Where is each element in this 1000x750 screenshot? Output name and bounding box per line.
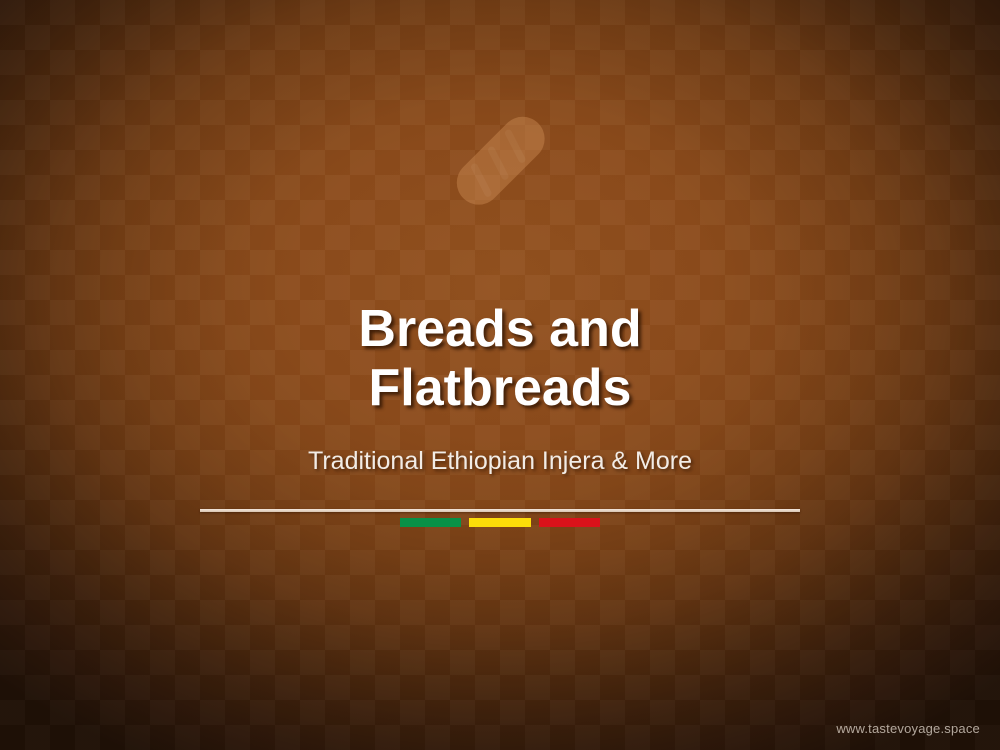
- background-pattern-square: [125, 675, 150, 700]
- background-pattern-square: [650, 0, 675, 25]
- background-pattern-square: [825, 25, 850, 50]
- background-pattern-square: [950, 150, 975, 175]
- background-pattern-square: [575, 725, 600, 750]
- background-pattern-square: [800, 50, 825, 75]
- background-pattern-square: [500, 550, 525, 575]
- background-pattern-square: [550, 0, 575, 25]
- background-pattern-square: [125, 175, 150, 200]
- background-pattern-square: [300, 100, 325, 125]
- background-pattern-square: [575, 625, 600, 650]
- background-pattern-square: [100, 150, 125, 175]
- background-pattern-square: [375, 75, 400, 100]
- background-pattern-square: [475, 275, 500, 300]
- background-pattern-square: [950, 100, 975, 125]
- background-pattern-square: [700, 0, 725, 25]
- background-pattern-square: [675, 575, 700, 600]
- background-pattern-square: [400, 0, 425, 25]
- background-pattern-square: [300, 550, 325, 575]
- background-pattern-square: [825, 175, 850, 200]
- background-pattern-square: [225, 25, 250, 50]
- background-pattern-square: [150, 500, 175, 525]
- background-pattern-square: [950, 550, 975, 575]
- background-pattern-square: [750, 100, 775, 125]
- background-pattern-square: [825, 475, 850, 500]
- background-pattern-square: [650, 550, 675, 575]
- background-pattern-square: [275, 225, 300, 250]
- background-pattern-square: [525, 525, 550, 550]
- background-pattern-square: [925, 275, 950, 300]
- background-pattern-square: [850, 150, 875, 175]
- background-pattern-square: [775, 275, 800, 300]
- background-pattern-square: [575, 475, 600, 500]
- background-pattern-square: [225, 75, 250, 100]
- background-pattern-square: [300, 650, 325, 675]
- background-pattern-square: [150, 0, 175, 25]
- background-pattern-square: [125, 625, 150, 650]
- background-pattern-square: [750, 650, 775, 675]
- background-pattern-square: [325, 675, 350, 700]
- background-pattern-square: [475, 675, 500, 700]
- background-pattern-square: [700, 500, 725, 525]
- background-pattern-square: [100, 550, 125, 575]
- background-pattern-square: [25, 725, 50, 750]
- background-pattern-square: [150, 600, 175, 625]
- background-pattern-square: [675, 725, 700, 750]
- background-pattern-square: [700, 550, 725, 575]
- background-pattern-square: [100, 50, 125, 75]
- background-pattern-square: [325, 275, 350, 300]
- background-pattern-square: [300, 50, 325, 75]
- background-pattern-square: [250, 250, 275, 275]
- background-pattern-square: [825, 125, 850, 150]
- background-pattern-square: [225, 725, 250, 750]
- background-pattern-square: [600, 200, 625, 225]
- background-pattern-square: [675, 25, 700, 50]
- background-pattern-square: [925, 25, 950, 50]
- background-pattern-square: [600, 700, 625, 725]
- background-pattern-square: [575, 675, 600, 700]
- background-pattern-square: [500, 700, 525, 725]
- background-pattern-square: [850, 600, 875, 625]
- background-pattern-square: [775, 75, 800, 100]
- background-pattern-square: [675, 525, 700, 550]
- background-pattern-square: [975, 475, 1000, 500]
- accent-bar-group: [400, 518, 600, 527]
- background-pattern-square: [725, 475, 750, 500]
- background-pattern-square: [50, 200, 75, 225]
- background-pattern-square: [375, 275, 400, 300]
- background-pattern-square: [550, 700, 575, 725]
- background-pattern-square: [975, 575, 1000, 600]
- background-pattern-square: [975, 225, 1000, 250]
- background-pattern-square: [400, 600, 425, 625]
- background-pattern-square: [925, 625, 950, 650]
- background-pattern-square: [850, 500, 875, 525]
- background-pattern-square: [375, 725, 400, 750]
- background-pattern-square: [875, 525, 900, 550]
- background-pattern-square: [875, 275, 900, 300]
- background-pattern-square: [575, 75, 600, 100]
- background-pattern-square: [900, 50, 925, 75]
- background-pattern-square: [675, 275, 700, 300]
- page-subtitle: Traditional Ethiopian Injera & More: [0, 444, 1000, 478]
- background-pattern-square: [925, 575, 950, 600]
- background-pattern-square: [400, 200, 425, 225]
- background-pattern-square: [50, 50, 75, 75]
- background-pattern-square: [750, 250, 775, 275]
- background-pattern-square: [425, 475, 450, 500]
- background-pattern-square: [700, 700, 725, 725]
- background-pattern-square: [400, 650, 425, 675]
- background-pattern-square: [725, 75, 750, 100]
- background-pattern-square: [500, 50, 525, 75]
- background-pattern-square: [50, 500, 75, 525]
- background-pattern-square: [575, 275, 600, 300]
- background-pattern-square: [25, 475, 50, 500]
- background-pattern-square: [150, 100, 175, 125]
- background-pattern-square: [375, 625, 400, 650]
- background-pattern-square: [425, 225, 450, 250]
- background-pattern-square: [325, 75, 350, 100]
- background-pattern-square: [200, 200, 225, 225]
- background-pattern-square: [125, 225, 150, 250]
- background-pattern-square: [0, 100, 25, 125]
- background-pattern-square: [75, 225, 100, 250]
- background-pattern-square: [950, 250, 975, 275]
- background-pattern-square: [900, 500, 925, 525]
- background-pattern-square: [650, 100, 675, 125]
- background-pattern-square: [875, 175, 900, 200]
- background-pattern-square: [100, 600, 125, 625]
- background-pattern-square: [225, 275, 250, 300]
- background-pattern-square: [325, 125, 350, 150]
- background-pattern-square: [925, 75, 950, 100]
- background-pattern-square: [600, 250, 625, 275]
- background-pattern-square: [800, 550, 825, 575]
- background-pattern-square: [75, 25, 100, 50]
- background-pattern-square: [425, 525, 450, 550]
- background-pattern-square: [800, 250, 825, 275]
- background-pattern-square: [600, 150, 625, 175]
- background-pattern-square: [425, 25, 450, 50]
- background-pattern-square: [325, 225, 350, 250]
- background-pattern-square: [350, 50, 375, 75]
- background-pattern-square: [650, 150, 675, 175]
- background-pattern-square: [775, 725, 800, 750]
- background-pattern-square: [0, 550, 25, 575]
- background-pattern-square: [725, 525, 750, 550]
- background-pattern-square: [825, 675, 850, 700]
- background-pattern-square: [275, 625, 300, 650]
- background-pattern-square: [900, 200, 925, 225]
- background-pattern-square: [25, 175, 50, 200]
- background-pattern-square: [350, 500, 375, 525]
- background-pattern-square: [125, 275, 150, 300]
- background-pattern-square: [50, 550, 75, 575]
- background-pattern-square: [925, 475, 950, 500]
- background-pattern-square: [200, 650, 225, 675]
- background-pattern-square: [50, 150, 75, 175]
- background-pattern-square: [750, 150, 775, 175]
- background-pattern-square: [375, 525, 400, 550]
- background-pattern-square: [675, 75, 700, 100]
- background-pattern-square: [850, 0, 875, 25]
- background-pattern-square: [675, 675, 700, 700]
- background-pattern-square: [600, 500, 625, 525]
- background-pattern-square: [400, 100, 425, 125]
- background-pattern-square: [75, 275, 100, 300]
- background-pattern-square: [325, 575, 350, 600]
- background-pattern-square: [475, 625, 500, 650]
- background-pattern-square: [0, 0, 25, 25]
- background-pattern-square: [875, 475, 900, 500]
- background-pattern-square: [250, 600, 275, 625]
- background-pattern-square: [900, 550, 925, 575]
- background-pattern-square: [475, 25, 500, 50]
- background-pattern-square: [50, 600, 75, 625]
- background-pattern-square: [525, 225, 550, 250]
- background-pattern-square: [125, 125, 150, 150]
- background-pattern-square: [825, 275, 850, 300]
- background-pattern-square: [750, 500, 775, 525]
- divider-rule: [200, 509, 800, 512]
- background-pattern-square: [200, 550, 225, 575]
- background-pattern-square: [175, 725, 200, 750]
- background-pattern-square: [850, 200, 875, 225]
- background-pattern-square: [100, 500, 125, 525]
- background-pattern-square: [25, 575, 50, 600]
- background-pattern-square: [375, 175, 400, 200]
- background-pattern-square: [800, 500, 825, 525]
- background-pattern-square: [0, 700, 25, 725]
- background-pattern-square: [775, 525, 800, 550]
- background-pattern-square: [375, 125, 400, 150]
- background-pattern-square: [625, 25, 650, 50]
- background-pattern-square: [325, 175, 350, 200]
- background-pattern-square: [25, 125, 50, 150]
- background-pattern-square: [300, 150, 325, 175]
- background-pattern-square: [275, 75, 300, 100]
- background-pattern-square: [350, 650, 375, 675]
- background-pattern-square: [750, 200, 775, 225]
- background-pattern-square: [575, 125, 600, 150]
- background-pattern-square: [550, 600, 575, 625]
- background-pattern-square: [425, 575, 450, 600]
- background-pattern-square: [750, 600, 775, 625]
- background-pattern-square: [725, 225, 750, 250]
- background-pattern-square: [800, 600, 825, 625]
- background-pattern-square: [800, 650, 825, 675]
- background-pattern-square: [825, 225, 850, 250]
- background-pattern-square: [600, 0, 625, 25]
- background-pattern-square: [525, 675, 550, 700]
- background-pattern-square: [450, 600, 475, 625]
- background-pattern-square: [900, 100, 925, 125]
- background-pattern-square: [225, 475, 250, 500]
- background-pattern-square: [350, 600, 375, 625]
- background-pattern-square: [825, 75, 850, 100]
- bread-loaf-icon: [435, 95, 565, 225]
- background-pattern-square: [275, 675, 300, 700]
- background-pattern-square: [175, 525, 200, 550]
- background-pattern-square: [150, 200, 175, 225]
- background-pattern-square: [75, 75, 100, 100]
- background-pattern-square: [275, 525, 300, 550]
- background-pattern-square: [75, 725, 100, 750]
- background-pattern-square: [825, 575, 850, 600]
- background-pattern-square: [925, 675, 950, 700]
- accent-bar-green: [400, 518, 461, 527]
- background-pattern-square: [75, 675, 100, 700]
- background-pattern-square: [625, 125, 650, 150]
- background-pattern-square: [75, 525, 100, 550]
- background-pattern-square: [875, 75, 900, 100]
- background-pattern-square: [700, 150, 725, 175]
- background-pattern-square: [450, 550, 475, 575]
- background-pattern-square: [975, 675, 1000, 700]
- background-pattern-square: [950, 0, 975, 25]
- background-pattern-square: [25, 275, 50, 300]
- background-pattern-square: [625, 175, 650, 200]
- background-pattern-square: [700, 250, 725, 275]
- background-pattern-square: [975, 175, 1000, 200]
- background-pattern-square: [250, 0, 275, 25]
- background-pattern-square: [550, 50, 575, 75]
- page-title-line-1: Breads and: [0, 300, 1000, 359]
- background-pattern-square: [650, 700, 675, 725]
- background-pattern-square: [200, 100, 225, 125]
- background-pattern-square: [450, 650, 475, 675]
- background-pattern-square: [650, 650, 675, 675]
- background-pattern-square: [425, 625, 450, 650]
- background-pattern-square: [300, 600, 325, 625]
- background-pattern-square: [100, 100, 125, 125]
- background-pattern-square: [625, 225, 650, 250]
- background-pattern-square: [300, 700, 325, 725]
- background-pattern-square: [350, 700, 375, 725]
- background-pattern-square: [475, 575, 500, 600]
- background-pattern-square: [375, 475, 400, 500]
- background-pattern-square: [350, 200, 375, 225]
- page-title: Breads and Flatbreads: [0, 300, 1000, 418]
- background-pattern-square: [175, 575, 200, 600]
- background-pattern-square: [875, 225, 900, 250]
- background-pattern-square: [950, 200, 975, 225]
- background-pattern-square: [450, 0, 475, 25]
- background-pattern-square: [625, 475, 650, 500]
- background-pattern-square: [350, 100, 375, 125]
- background-pattern-square: [975, 75, 1000, 100]
- background-pattern-square: [875, 675, 900, 700]
- background-pattern-square: [900, 250, 925, 275]
- background-pattern-square: [200, 500, 225, 525]
- background-pattern-square: [125, 75, 150, 100]
- background-pattern-square: [450, 700, 475, 725]
- background-pattern-square: [100, 250, 125, 275]
- background-pattern-square: [200, 150, 225, 175]
- background-pattern-square: [675, 125, 700, 150]
- background-pattern-square: [275, 725, 300, 750]
- background-pattern-square: [725, 625, 750, 650]
- page-title-line-2: Flatbreads: [0, 359, 1000, 418]
- background-pattern-square: [975, 25, 1000, 50]
- background-pattern-square: [275, 575, 300, 600]
- background-pattern-square: [325, 725, 350, 750]
- background-pattern-square: [225, 675, 250, 700]
- background-pattern-square: [375, 675, 400, 700]
- background-pattern-square: [750, 50, 775, 75]
- background-pattern-square: [650, 500, 675, 525]
- background-pattern-square: [25, 675, 50, 700]
- background-pattern-square: [825, 625, 850, 650]
- background-pattern-square: [175, 175, 200, 200]
- background-pattern-square: [600, 650, 625, 675]
- background-pattern-square: [775, 625, 800, 650]
- background-pattern-square: [150, 550, 175, 575]
- background-pattern-square: [575, 175, 600, 200]
- background-pattern-square: [725, 175, 750, 200]
- background-pattern-square: [650, 600, 675, 625]
- background-pattern-square: [400, 700, 425, 725]
- background-pattern-square: [850, 550, 875, 575]
- background-pattern-square: [650, 250, 675, 275]
- background-pattern-square: [775, 125, 800, 150]
- background-pattern-square: [275, 25, 300, 50]
- background-pattern-square: [725, 725, 750, 750]
- background-pattern-square: [850, 650, 875, 675]
- background-pattern-square: [500, 250, 525, 275]
- background-pattern-square: [250, 100, 275, 125]
- background-pattern-square: [50, 100, 75, 125]
- background-pattern-square: [75, 575, 100, 600]
- background-pattern-square: [875, 625, 900, 650]
- background-pattern-square: [250, 500, 275, 525]
- background-pattern-square: [25, 525, 50, 550]
- background-pattern-square: [675, 625, 700, 650]
- background-pattern-square: [250, 50, 275, 75]
- background-pattern-square: [675, 475, 700, 500]
- background-pattern-square: [725, 575, 750, 600]
- background-pattern-square: [150, 700, 175, 725]
- background-pattern-square: [250, 200, 275, 225]
- background-pattern-square: [200, 600, 225, 625]
- background-pattern-square: [500, 600, 525, 625]
- accent-bar-yellow: [469, 518, 530, 527]
- watermark-url: www.tastevoyage.space: [836, 721, 980, 736]
- background-pattern-square: [300, 200, 325, 225]
- background-pattern-square: [125, 575, 150, 600]
- background-pattern-square: [250, 650, 275, 675]
- background-pattern-square: [100, 200, 125, 225]
- background-pattern-square: [150, 650, 175, 675]
- background-pattern-square: [275, 175, 300, 200]
- title-slide: Breads and Flatbreads Traditional Ethiop…: [0, 0, 1000, 750]
- background-pattern-square: [200, 700, 225, 725]
- background-pattern-square: [50, 250, 75, 275]
- background-pattern-square: [225, 575, 250, 600]
- background-pattern-square: [900, 150, 925, 175]
- background-pattern-square: [375, 25, 400, 50]
- background-pattern-square: [950, 600, 975, 625]
- background-pattern-square: [325, 25, 350, 50]
- background-pattern-square: [950, 650, 975, 675]
- background-pattern-square: [75, 475, 100, 500]
- background-pattern-square: [350, 250, 375, 275]
- background-pattern-square: [250, 700, 275, 725]
- background-pattern-square: [175, 25, 200, 50]
- background-pattern-square: [175, 125, 200, 150]
- background-pattern-square: [875, 575, 900, 600]
